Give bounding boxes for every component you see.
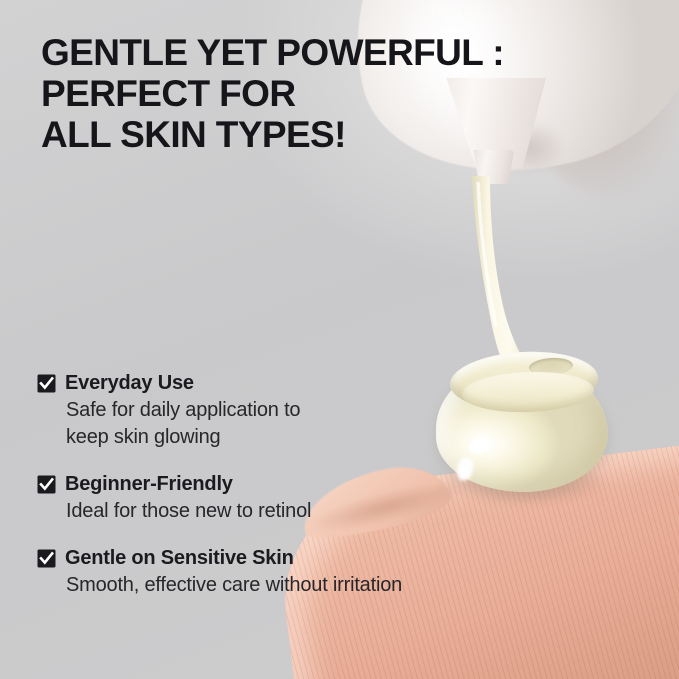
benefit-description: Ideal for those new to retinol [66, 498, 597, 525]
text-overlay: GENTLE YET POWERFUL : PERFECT FOR ALL SK… [0, 0, 679, 679]
list-item: Beginner-Friendly Ideal for those new to… [37, 473, 597, 525]
infographic-canvas: GENTLE YET POWERFUL : PERFECT FOR ALL SK… [0, 0, 679, 679]
benefit-heading-row: Beginner-Friendly [37, 473, 597, 495]
checkbox-checked-icon [37, 374, 56, 393]
list-item: Gentle on Sensitive Skin Smooth, effecti… [37, 547, 597, 599]
page-title: GENTLE YET POWERFUL : PERFECT FOR ALL SK… [41, 32, 504, 155]
benefit-title: Gentle on Sensitive Skin [65, 547, 294, 569]
checkbox-checked-icon [37, 475, 56, 494]
benefit-title: Everyday Use [65, 372, 194, 394]
benefit-heading-row: Gentle on Sensitive Skin [37, 547, 597, 569]
benefit-description: Safe for daily application to keep skin … [66, 397, 597, 451]
benefits-list: Everyday Use Safe for daily application … [37, 372, 597, 599]
benefit-heading-row: Everyday Use [37, 372, 597, 394]
benefit-title: Beginner-Friendly [65, 473, 233, 495]
list-item: Everyday Use Safe for daily application … [37, 372, 597, 451]
checkbox-checked-icon [37, 549, 56, 568]
benefit-description: Smooth, effective care without irritatio… [66, 572, 597, 599]
